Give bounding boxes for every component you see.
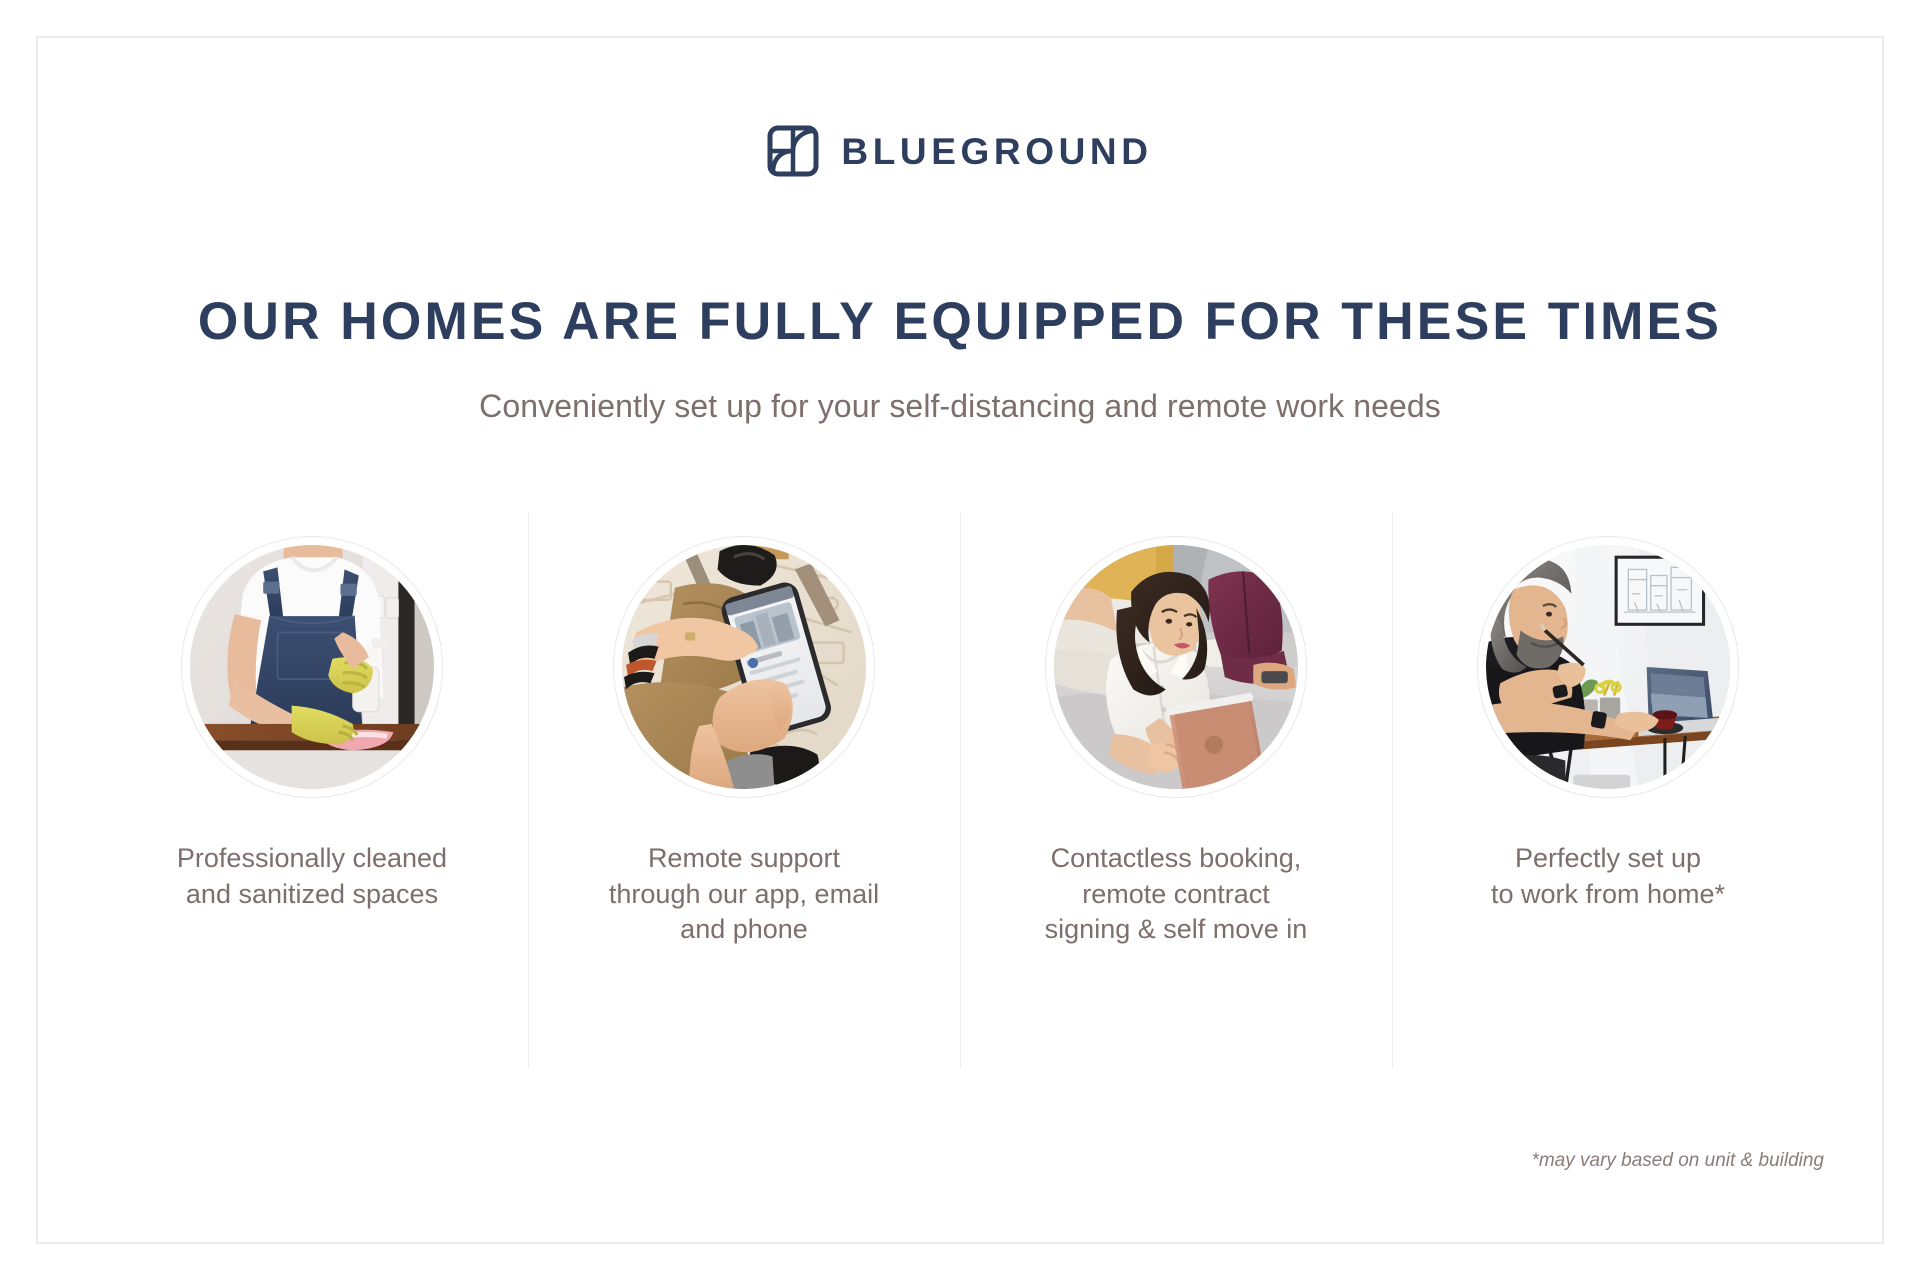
cleaning-photo xyxy=(190,545,434,789)
tablet-booking-photo xyxy=(1054,545,1298,789)
feature-column: Remote support through our app, email an… xyxy=(528,512,960,1068)
page-subtitle: Conveniently set up for your self-distan… xyxy=(0,387,1920,425)
feature-caption: Remote support through our app, email an… xyxy=(609,841,879,948)
brand-logo: BLUEGROUND xyxy=(0,125,1920,177)
photo-ring xyxy=(613,536,875,798)
feature-caption: Professionally cleaned and sanitized spa… xyxy=(177,841,447,912)
page-title: OUR HOMES ARE FULLY EQUIPPED FOR THESE T… xyxy=(19,294,1901,350)
phone-support-photo xyxy=(622,545,866,789)
footnote-disclaimer: *may vary based on unit & building xyxy=(1531,1150,1824,1172)
feature-column: Perfectly set up to work from home* xyxy=(1392,512,1824,1068)
photo-ring xyxy=(181,536,443,798)
feature-caption: Perfectly set up to work from home* xyxy=(1491,841,1725,912)
brand-wordmark: BLUEGROUND xyxy=(841,133,1152,170)
photo-ring xyxy=(1477,536,1739,798)
feature-column: Professionally cleaned and sanitized spa… xyxy=(96,512,528,1068)
photo-ring xyxy=(1045,536,1307,798)
blueground-square-mark-icon xyxy=(767,125,819,177)
promo-page: BLUEGROUND OUR HOMES ARE FULLY EQUIPPED … xyxy=(0,0,1920,1280)
feature-column: Contactless booking, remote contract sig… xyxy=(960,512,1392,1068)
feature-columns: Professionally cleaned and sanitized spa… xyxy=(96,512,1824,1068)
feature-caption: Contactless booking, remote contract sig… xyxy=(1045,841,1308,948)
work-from-home-photo xyxy=(1486,545,1730,789)
